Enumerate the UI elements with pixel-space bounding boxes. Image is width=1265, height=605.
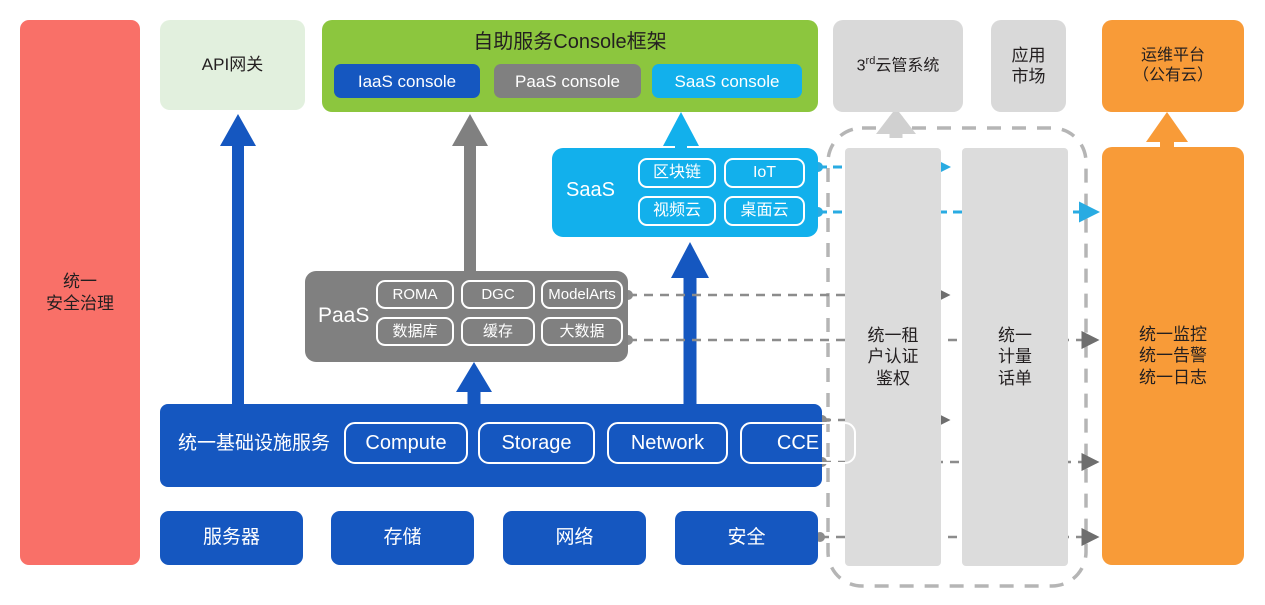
panel-third-party-cloud-label: 3rd云管系统 [857, 55, 940, 76]
paas-item-roma-label: ROMA [393, 287, 438, 302]
arrow-infra-to-saas [671, 242, 709, 405]
paas-item-dgc-label: DGC [481, 287, 514, 302]
panel-saas[interactable]: SaaS 区块链 IoT 视频云 桌面云 [552, 148, 818, 237]
saas-item-blockchain[interactable]: 区块链 [638, 158, 716, 188]
panel-infrastructure-title: 统一基础设施服务 [178, 432, 330, 456]
panel-console-framework[interactable]: 自助服务Console框架 IaaS console PaaS console … [322, 20, 818, 112]
infra-item-cce[interactable]: CCE [740, 422, 856, 464]
paas-item-bigdata[interactable]: 大数据 [541, 317, 623, 346]
panel-ops-platform-side[interactable]: 统一监控 统一告警 统一日志 [1102, 147, 1244, 565]
panel-app-market[interactable]: 应用 市场 [991, 20, 1066, 112]
console-item-iaas[interactable]: IaaS console [334, 64, 480, 98]
panel-ops-platform-top[interactable]: 运维平台 （公有云） [1102, 20, 1244, 112]
infra-item-compute[interactable]: Compute [344, 422, 468, 464]
console-item-paas[interactable]: PaaS console [494, 64, 641, 98]
resource-server[interactable]: 服务器 [160, 511, 303, 565]
paas-item-database[interactable]: 数据库 [376, 317, 454, 346]
resource-server-label: 服务器 [203, 526, 260, 550]
arrow-infra-to-api [220, 114, 256, 405]
infra-item-storage[interactable]: Storage [478, 422, 595, 464]
console-framework-title: 自助服务Console框架 [322, 30, 818, 55]
console-item-paas-label: PaaS console [515, 73, 620, 90]
saas-item-desktop-cloud-label: 桌面云 [740, 203, 788, 219]
resource-security-label: 安全 [727, 526, 765, 550]
paas-item-bigdata-label: 大数据 [559, 324, 604, 339]
infra-item-network-label: Network [631, 433, 704, 453]
arrow-to-ops-platform [1146, 112, 1188, 148]
column-tenant-auth-label: 统一租 户认证 鉴权 [868, 325, 919, 389]
architecture-diagram: 统一 安全治理 API网关 自助服务Console框架 IaaS console… [0, 0, 1265, 605]
panel-infrastructure[interactable]: 统一基础设施服务 Compute Storage Network CCE [160, 404, 822, 487]
saas-item-desktop-cloud[interactable]: 桌面云 [724, 196, 805, 226]
infra-item-cce-label: CCE [777, 433, 819, 453]
column-metering-billing-label: 统一 计量 话单 [998, 325, 1032, 389]
arrow-infra-to-paas [456, 362, 492, 410]
paas-item-modelarts-label: ModelArts [548, 287, 616, 302]
resource-storage[interactable]: 存储 [331, 511, 474, 565]
saas-item-video-cloud[interactable]: 视频云 [638, 196, 716, 226]
paas-item-cache[interactable]: 缓存 [461, 317, 535, 346]
saas-item-blockchain-label: 区块链 [653, 165, 701, 181]
panel-app-market-label: 应用 市场 [1012, 45, 1046, 88]
infra-item-network[interactable]: Network [607, 422, 728, 464]
panel-paas[interactable]: PaaS ROMA DGC ModelArts 数据库 缓存 大数据 [305, 271, 628, 362]
console-item-iaas-label: IaaS console [358, 73, 456, 90]
column-tenant-auth[interactable]: 统一租 户认证 鉴权 [845, 148, 941, 566]
panel-api-gateway[interactable]: API网关 [160, 20, 305, 110]
panel-third-party-cloud[interactable]: 3rd云管系统 [833, 20, 963, 112]
panel-ops-platform-side-label: 统一监控 统一告警 统一日志 [1139, 324, 1207, 388]
resource-storage-label: 存储 [383, 526, 421, 550]
infra-item-storage-label: Storage [501, 433, 571, 453]
resource-security[interactable]: 安全 [675, 511, 818, 565]
arrow-saas-to-console [663, 112, 699, 152]
arrow-to-third-party [876, 108, 916, 138]
panel-paas-title: PaaS [318, 303, 369, 329]
resource-network[interactable]: 网络 [503, 511, 646, 565]
panel-security-label: 统一 安全治理 [46, 271, 114, 314]
saas-item-iot-label: IoT [753, 165, 776, 181]
console-item-saas[interactable]: SaaS console [652, 64, 802, 98]
resource-network-label: 网络 [555, 526, 593, 550]
paas-item-database-label: 数据库 [392, 324, 437, 339]
arrow-paas-to-console [452, 114, 488, 275]
saas-item-iot[interactable]: IoT [724, 158, 805, 188]
paas-item-cache-label: 缓存 [483, 324, 513, 339]
saas-item-video-cloud-label: 视频云 [653, 203, 701, 219]
panel-saas-title: SaaS [566, 178, 615, 203]
column-metering-billing[interactable]: 统一 计量 话单 [962, 148, 1068, 566]
paas-item-dgc[interactable]: DGC [461, 280, 535, 309]
paas-item-roma[interactable]: ROMA [376, 280, 454, 309]
console-item-saas-label: SaaS console [675, 73, 780, 90]
panel-api-gateway-label: API网关 [202, 54, 263, 75]
panel-ops-platform-top-label: 运维平台 （公有云） [1133, 46, 1213, 86]
infra-item-compute-label: Compute [365, 433, 446, 453]
panel-security[interactable]: 统一 安全治理 [20, 20, 140, 565]
paas-item-modelarts[interactable]: ModelArts [541, 280, 623, 309]
